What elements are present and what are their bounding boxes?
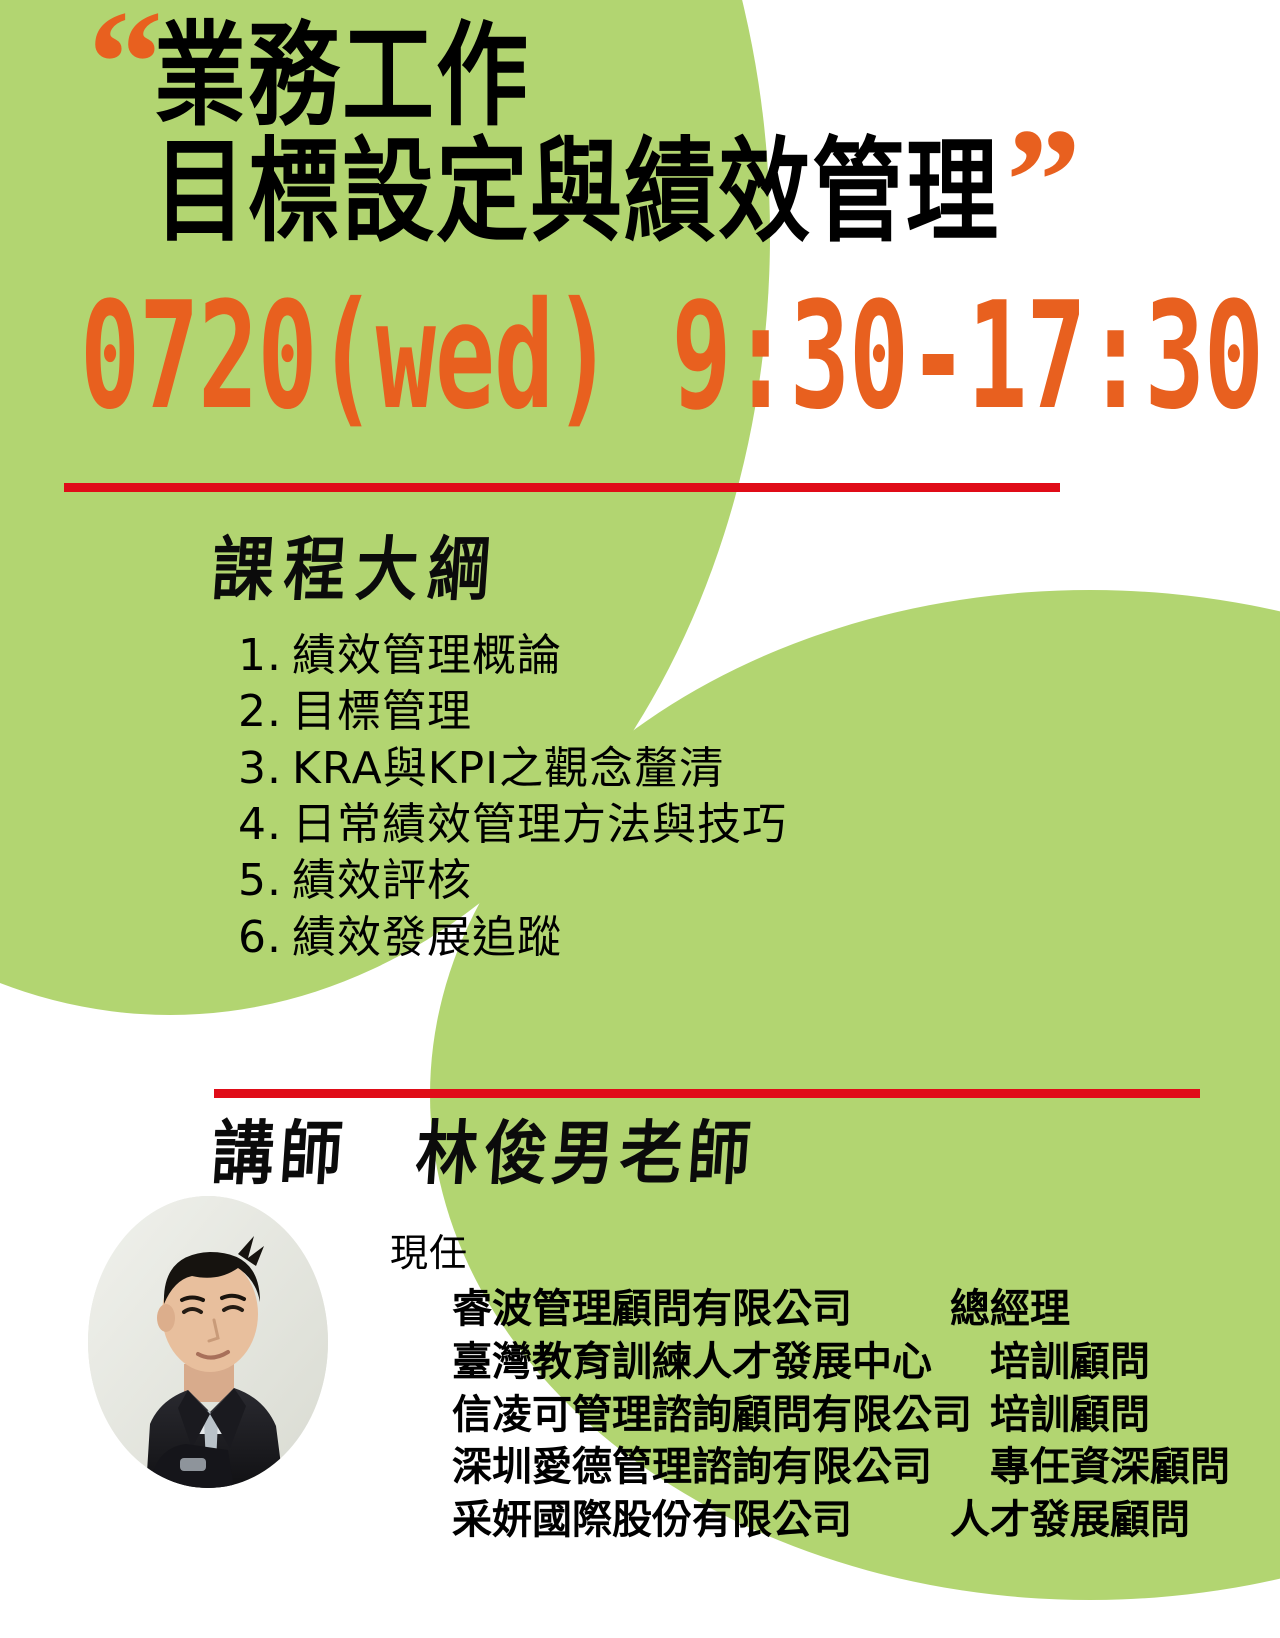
divider-rule-bottom xyxy=(214,1089,1200,1098)
list-item-number: 1. xyxy=(238,628,292,684)
course-outline-list: 1.績效管理概論 2.目標管理 3.KRA與KPI之觀念釐清 4.日常績效管理方… xyxy=(238,628,1158,966)
list-item: 1.績效管理概論 xyxy=(238,628,1158,684)
list-item: 4.日常績效管理方法與技巧 xyxy=(238,797,1158,853)
list-item: 5.績效評核 xyxy=(238,853,1158,909)
credentials-label: 現任 xyxy=(390,1222,1220,1277)
list-item-label: 績效管理概論 xyxy=(292,630,562,681)
credential-row: 深圳愛德管理諮詢有限公司 專任資深顧問 xyxy=(452,1441,1220,1494)
credentials-list: 睿波管理顧問有限公司 總經理 臺灣教育訓練人才發展中心 培訓顧問 信凌可管理諮詢… xyxy=(390,1283,1220,1547)
credential-organization: 臺灣教育訓練人才發展中心 xyxy=(452,1336,932,1389)
course-outline-heading: 課程大綱 xyxy=(209,513,504,614)
credential-role: 專任資深顧問 xyxy=(950,1441,1230,1494)
list-item-label: 日常績效管理方法與技巧 xyxy=(292,799,787,850)
credential-row: 采妍國際股份有限公司 人才發展顧問 xyxy=(452,1494,1220,1547)
credential-row: 睿波管理顧問有限公司 總經理 xyxy=(452,1283,1220,1336)
list-item-number: 6. xyxy=(238,910,292,966)
credential-role: 人才發展顧問 xyxy=(870,1494,1190,1547)
datetime-banner: 0720(wed) 9:30-17:30 xyxy=(80,282,1194,430)
list-item-label: 目標管理 xyxy=(292,686,472,737)
lecturer-heading: 講師 林俊男老師 xyxy=(209,1097,760,1198)
credential-organization: 信凌可管理諮詢顧問有限公司 xyxy=(452,1389,972,1442)
course-poster: “ 業務工作 目標設定與績效管理 ” 0720(wed) 9:30-17:30 … xyxy=(0,0,1280,1638)
list-item: 2.目標管理 xyxy=(238,684,1158,740)
list-item-label: 績效發展追蹤 xyxy=(292,912,562,963)
lecturer-avatar xyxy=(88,1196,328,1488)
credential-organization: 深圳愛德管理諮詢有限公司 xyxy=(452,1441,932,1494)
list-item-label: 績效評核 xyxy=(292,855,472,906)
quote-close-icon: ” xyxy=(1006,106,1075,256)
list-item-number: 3. xyxy=(238,741,292,797)
title-line-1: 業務工作 xyxy=(154,18,530,136)
credential-role: 總經理 xyxy=(870,1283,1070,1336)
divider-rule-top xyxy=(64,483,1060,492)
list-item-number: 5. xyxy=(238,853,292,909)
lecturer-credentials: 現任 睿波管理顧問有限公司 總經理 臺灣教育訓練人才發展中心 培訓顧問 信凌可管… xyxy=(390,1222,1220,1547)
list-item-number: 4. xyxy=(238,797,292,853)
credential-row: 臺灣教育訓練人才發展中心 培訓顧問 xyxy=(452,1336,1220,1389)
quote-open-icon: “ xyxy=(88,0,157,138)
list-item: 3.KRA與KPI之觀念釐清 xyxy=(238,741,1158,797)
credential-organization: 睿波管理顧問有限公司 xyxy=(452,1283,852,1336)
credential-role: 培訓顧問 xyxy=(950,1336,1150,1389)
list-item-label: KRA與KPI之觀念釐清 xyxy=(292,743,724,794)
portrait-illustration xyxy=(88,1196,328,1488)
title-line-2: 目標設定與績效管理 xyxy=(154,134,1000,252)
credential-role: 培訓顧問 xyxy=(990,1389,1150,1442)
list-item: 6.績效發展追蹤 xyxy=(238,910,1158,966)
credential-organization: 采妍國際股份有限公司 xyxy=(452,1494,852,1547)
credential-row: 信凌可管理諮詢顧問有限公司 培訓顧問 xyxy=(452,1389,1220,1442)
list-item-number: 2. xyxy=(238,684,292,740)
